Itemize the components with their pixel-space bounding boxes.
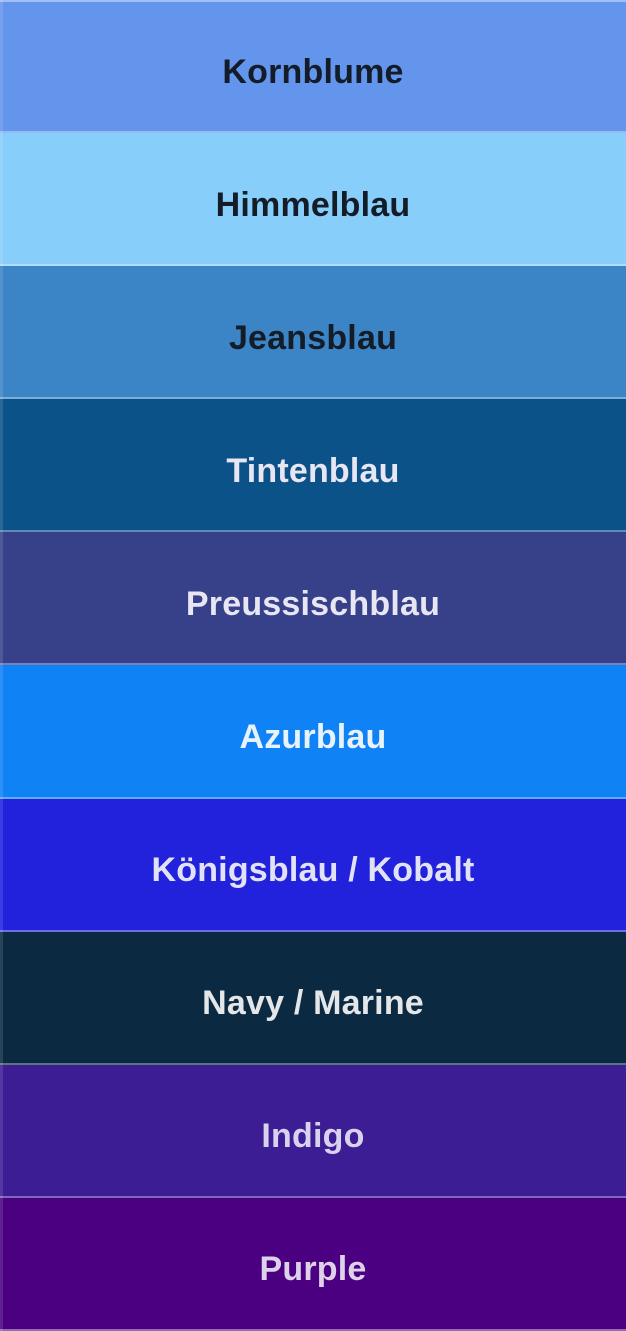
color-swatch[interactable]: Kornblume [0,0,626,133]
color-swatch[interactable]: Himmelblau [0,133,626,266]
color-palette-list: KornblumeHimmelblauJeansblauTintenblauPr… [0,0,626,1331]
color-swatch[interactable]: Purple [0,1198,626,1331]
color-swatch[interactable]: Azurblau [0,665,626,798]
color-swatch[interactable]: Königsblau / Kobalt [0,799,626,932]
color-swatch[interactable]: Preussischblau [0,532,626,665]
color-swatch-label: Navy / Marine [202,986,424,1020]
color-swatch-label: Tintenblau [226,454,399,488]
color-swatch-label: Purple [259,1252,366,1286]
color-swatch-label: Himmelblau [216,188,411,222]
color-swatch-label: Königsblau / Kobalt [151,853,474,887]
color-swatch-label: Indigo [261,1119,364,1153]
color-swatch[interactable]: Tintenblau [0,399,626,532]
color-swatch-label: Kornblume [222,55,403,89]
color-swatch-label: Azurblau [239,720,386,754]
color-swatch-label: Preussischblau [186,587,440,621]
color-swatch-label: Jeansblau [229,321,397,355]
color-swatch[interactable]: Indigo [0,1065,626,1198]
color-swatch[interactable]: Jeansblau [0,266,626,399]
color-swatch[interactable]: Navy / Marine [0,932,626,1065]
